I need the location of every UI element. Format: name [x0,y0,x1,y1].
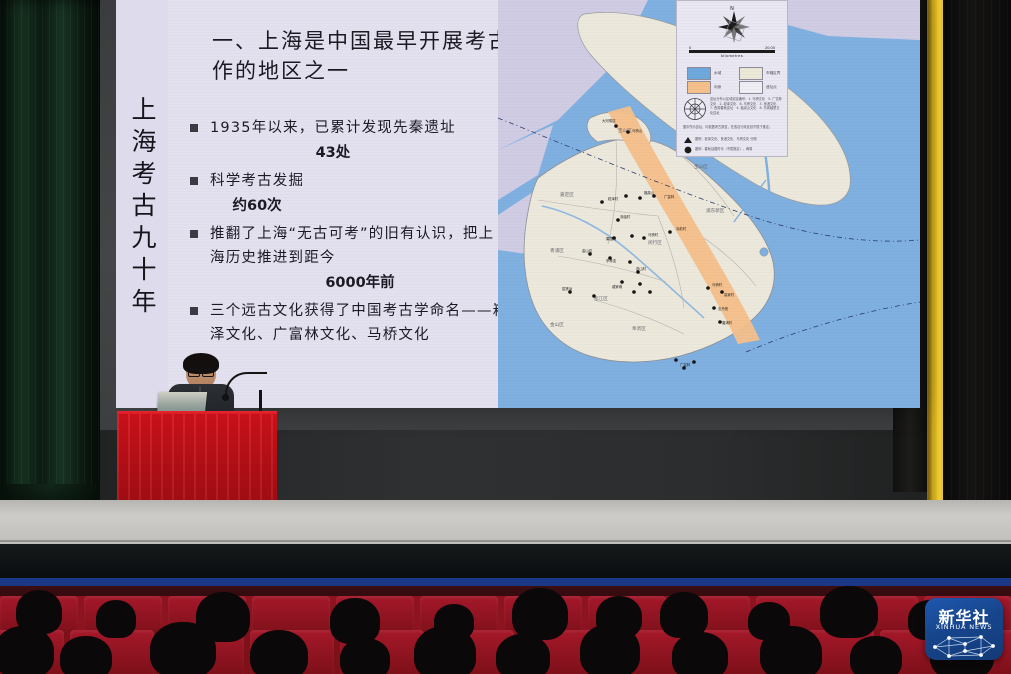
shanghai-site-distribution-map: 崇明区 [498,0,920,408]
bullet-emphasis: 43处 [210,141,456,165]
svg-text:广富林: 广富林 [664,194,675,199]
svg-text:果园村: 果园村 [606,236,617,241]
svg-text:嘉定区: 嘉定区 [560,191,574,198]
curtain-right [943,0,1011,520]
legend-label-district: 市辖区界 [766,71,780,76]
bullet-square-icon [190,124,198,132]
legend-label-site: 遗址点 [766,85,777,90]
audience-head [150,622,216,674]
svg-text:招贤浜: 招贤浜 [562,286,573,291]
audience-head [60,636,112,674]
bullet-text: 1935年以来，已累计发现先秦遗址43处 [210,116,456,165]
map-scale-bar: 0 20.00 kilometres [689,45,775,58]
watermark-en-text: XINHUA NEWS [925,623,1003,631]
legend-glyph-b-icon [683,146,693,154]
audience-head [414,626,476,674]
legend-item-site: 遗址点 [739,81,777,94]
svg-text:大河嘴遗: 大河嘴遗 [602,118,616,123]
svg-text:宝山区: 宝山区 [694,163,708,170]
legend-symbol-1: 图例：崧泽文化、良渚文化、马桥文化 分期 [695,137,783,142]
bullet-text: 推翻了上海“无古可考”的旧有认识，把上海历史推进到距今6000年前 [210,222,510,295]
svg-text:唐浦村: 唐浦村 [722,320,733,325]
svg-text:查山村: 查山村 [636,266,647,271]
legend-swatch-site [739,81,763,94]
projection-screen: 上海考古九十年 一、上海是中国最早开展考古工作的地区之一 1935年以来，已累计… [168,0,920,408]
slide-spine-title: 上海考古九十年 [124,96,160,320]
xinhua-news-watermark: 新华社 XINHUA NEWS [925,598,1003,660]
slide-bullet-list: 1935年以来，已累计发现先秦遗址43处 科学考古发掘约60次 推翻了上海“无古… [190,116,510,351]
audience-head [340,638,390,674]
svg-text:松江区: 松江区 [594,295,608,302]
slide-spine-strip: 上海考古九十年 [116,0,168,408]
network-nodes-icon [925,631,1003,660]
svg-text:N: N [730,6,734,12]
audience-head [850,636,902,674]
audience-head [496,634,550,674]
svg-text:金山区: 金山区 [550,321,564,328]
svg-text:青浦区: 青浦区 [550,247,564,254]
legend-wheel-icon [683,97,707,121]
bullet-text: 三个远古文化获得了中国考古学命名——崧泽文化、广富林文化、马桥文化 [210,299,510,347]
svg-text:福泉山: 福泉山 [644,190,655,195]
svg-text:戚家墩: 戚家墩 [612,284,623,289]
audience-head [512,588,568,640]
legend-item-band: 冈身 [687,81,721,94]
microphone-head [222,394,229,401]
svg-text:高家村: 高家村 [724,292,735,297]
bullet-emphasis: 6000年前 [210,271,510,295]
legend-footnote: 图中所示遗址，均依据考古报告，在各自行政区划不属于推定。 [683,125,783,130]
red-draped-table [117,414,277,512]
legend-swatch-district [739,67,763,80]
svg-text:宝山区: 宝山区 [618,127,632,134]
microphone [225,372,271,416]
audience-head [250,630,308,674]
curtain-left [0,0,100,500]
list-item: 推翻了上海“无古可考”的旧有认识，把上海历史推进到距今6000年前 [190,222,510,295]
legend-swatch-band [687,81,711,94]
legend-item-district: 市辖区界 [739,67,780,80]
audience-head [760,626,822,674]
svg-text:浦东新区: 浦东新区 [706,207,725,214]
legend-note: 遗址分布以区域划定编号：1. 马桥文化 5. 广富林文化 2. 崧泽文化 6. … [710,97,782,115]
svg-text:汤庙村: 汤庙村 [620,214,631,219]
svg-text:广富林: 广富林 [680,362,691,367]
stage-edge-line [0,540,1011,542]
bullet-square-icon [190,230,198,238]
legend-symbol-2: 图例：春秋战国时代（不属推定）、两周 [695,147,783,152]
audience-head [672,632,728,674]
legend-item-water: 水域 [687,67,721,80]
bullet-square-icon [190,307,198,315]
audience-head [96,600,136,638]
legend-label-water: 水域 [714,71,721,76]
scale-max: 20.00 [765,45,775,50]
photo-scene: 上海考古九十年 一、上海是中国最早开展考古工作的地区之一 1935年以来，已累计… [0,0,1011,674]
audience-head [580,624,640,674]
bullet-text: 科学考古发掘约60次 [210,169,304,218]
map-legend: N 0 20.00 [676,0,788,157]
svg-text:闵行区: 闵行区 [648,239,662,246]
svg-text:金山坟: 金山坟 [582,248,593,253]
legend-swatch-water [687,67,711,80]
audience-head [330,598,380,644]
compass-rose-icon: N [703,3,765,45]
audience-head [820,586,878,638]
bullet-emphasis: 约60次 [210,194,304,218]
svg-text:寺前村: 寺前村 [676,226,687,231]
scale-min: 0 [689,45,691,50]
list-item: 1935年以来，已累计发现先秦遗址43处 [190,116,510,165]
legend-label-band: 冈身 [714,85,721,90]
audience-head [0,626,54,674]
bullet-square-icon [190,177,198,185]
audience-area [0,586,1011,674]
list-item: 科学考古发掘约60次 [190,169,510,218]
scale-unit: kilometres [689,53,775,58]
glasses-icon [188,369,214,375]
legend-glyph-a-icon [683,136,693,144]
svg-text:崧泽村: 崧泽村 [608,196,619,201]
svg-text:亭林遗: 亭林遗 [606,258,617,263]
svg-text:马桥村: 马桥村 [648,232,659,237]
list-item: 三个远古文化获得了中国考古学命名——崧泽文化、广富林文化、马桥文化 [190,299,510,347]
svg-text:奉贤区: 奉贤区 [632,325,646,332]
svg-text:志丹苑: 志丹苑 [718,306,729,311]
svg-text:马桥村: 马桥村 [712,282,723,287]
svg-text:马桥山: 马桥山 [632,128,643,133]
slide-title: 一、上海是中国最早开展考古工作的地区之一 [212,26,542,86]
